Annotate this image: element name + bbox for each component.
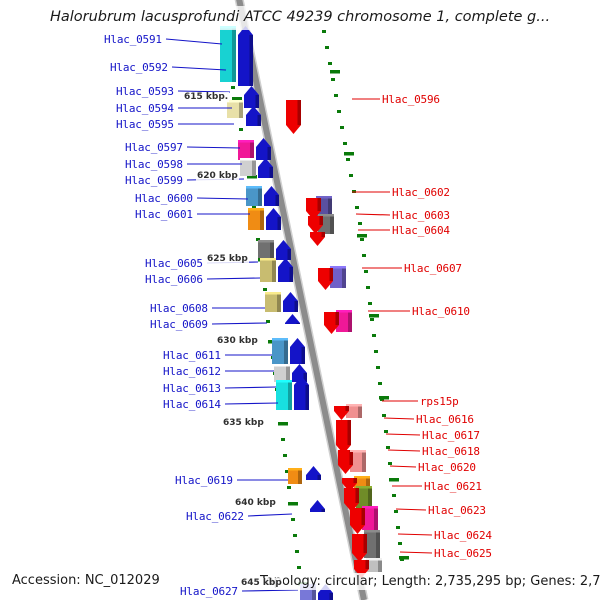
genome-graphics-layer: [0, 0, 600, 600]
gene-label-hlac_0614[interactable]: Hlac_0614: [163, 399, 221, 410]
gene-label-connector: [225, 403, 278, 404]
gene-box-top: [265, 292, 281, 295]
gene-label-connector: [386, 434, 420, 435]
gene-box-top: [258, 240, 274, 243]
gene-label-hlac_0607[interactable]: Hlac_0607: [404, 263, 462, 274]
gene-color-box[interactable]: [276, 380, 292, 410]
gene-box-side: [284, 338, 288, 364]
gene-arrow-side: [330, 593, 334, 600]
ruler-minor-tick: [293, 534, 297, 537]
ruler-label: 620 kbp: [196, 171, 239, 181]
ruler-label: 615 kbp.: [183, 92, 229, 102]
gene-color-box[interactable]: [265, 292, 281, 312]
gene-label-hlac_0592[interactable]: Hlac_0592: [110, 62, 168, 73]
gene-box-side: [286, 364, 290, 382]
ruler-minor-tick: [334, 94, 338, 97]
ruler-minor-tick: [346, 158, 350, 161]
gene-arrow-side: [318, 198, 322, 211]
gene-label-connector: [197, 198, 248, 199]
gene-box-top: [240, 158, 256, 161]
gene-label-hlac_0591[interactable]: Hlac_0591: [104, 34, 162, 45]
gene-color-box[interactable]: [246, 186, 262, 206]
gene-label-hlac_0627[interactable]: Hlac_0627: [180, 586, 238, 597]
ruler-minor-tick: [384, 430, 388, 433]
gene-label-hlac_0596[interactable]: Hlac_0596: [382, 94, 440, 105]
gene-label-connector: [396, 509, 426, 510]
gene-arrow-forward[interactable]: [238, 26, 265, 86]
gene-arrow-side: [302, 347, 306, 364]
gene-arrow-side: [298, 100, 302, 125]
gene-box-side: [250, 140, 254, 160]
ruler-major-tick: [232, 97, 242, 101]
gene-color-box[interactable]: [288, 468, 302, 484]
ruler-label: 625 kbp: [206, 254, 249, 264]
ruler-major-tick: [379, 396, 389, 400]
gene-box-side: [277, 292, 281, 312]
ruler-minor-tick: [328, 62, 332, 65]
gene-label-hlac_0611[interactable]: Hlac_0611: [163, 350, 221, 361]
ruler-minor-tick: [283, 454, 287, 457]
gene-label-hlac_0612[interactable]: Hlac_0612: [163, 366, 221, 377]
gene-box-top: [272, 338, 288, 341]
ruler-minor-tick: [281, 438, 285, 441]
ruler-label: 635 kbp: [222, 418, 265, 428]
ruler-minor-tick: [392, 494, 396, 497]
ruler-minor-tick: [287, 486, 291, 489]
gene-arrow-side: [250, 35, 254, 86]
sequence-stats-label: Topology: circular; Length: 2,735,295 bp…: [258, 573, 600, 590]
gene-arrow-side: [346, 406, 350, 411]
ruler-minor-tick: [358, 222, 362, 225]
gene-arrow-side: [268, 147, 272, 160]
ruler-minor-tick: [364, 270, 368, 273]
ruler-minor-tick: [337, 110, 341, 113]
gene-arrow-side: [362, 508, 366, 525]
gene-arrow-side: [364, 534, 368, 553]
gene-label-hlac_0593[interactable]: Hlac_0593: [116, 86, 174, 97]
gene-box-side: [288, 380, 292, 410]
sequence-viewer-canvas[interactable]: Halorubrum lacusprofundi ATCC 49239 chro…: [0, 0, 600, 600]
ruler-minor-tick: [388, 462, 392, 465]
gene-color-box[interactable]: [220, 26, 236, 82]
gene-arrow-side: [256, 95, 260, 108]
gene-arrow-side: [276, 195, 280, 206]
gene-color-box[interactable]: [227, 100, 243, 118]
ruler-minor-tick: [322, 30, 326, 33]
gene-arrow-side: [354, 478, 358, 483]
gene-color-box[interactable]: [238, 140, 254, 160]
ruler-minor-tick: [239, 128, 243, 131]
ruler-minor-tick: [394, 510, 398, 513]
ruler-minor-tick: [382, 414, 386, 417]
ruler-minor-tick: [374, 350, 378, 353]
gene-label-connector: [187, 147, 240, 148]
gene-label-hlac_0608[interactable]: Hlac_0608: [150, 303, 208, 314]
gene-label-hlac_0606[interactable]: Hlac_0606: [145, 274, 203, 285]
gene-color-box[interactable]: [272, 338, 288, 364]
gene-arrow-side: [297, 323, 301, 324]
gene-label-hlac_0624[interactable]: Hlac_0624: [434, 530, 492, 541]
gene-arrow-side: [295, 301, 299, 312]
gene-label-hlac_0597[interactable]: Hlac_0597: [125, 142, 183, 153]
gene-label-hlac_0621[interactable]: Hlac_0621: [424, 481, 482, 492]
gene-arrow-side: [336, 312, 340, 325]
gene-box-side: [258, 186, 262, 206]
gene-box-side: [272, 258, 276, 282]
gene-label-hlac_0604[interactable]: Hlac_0604: [392, 225, 450, 236]
ruler-minor-tick: [295, 550, 299, 553]
gene-label-connector: [390, 466, 416, 467]
gene-arrow-reverse[interactable]: [310, 232, 337, 246]
gene-label-hlac_0622[interactable]: Hlac_0622: [186, 511, 244, 522]
ruler-minor-tick: [398, 542, 402, 545]
gene-label-connector: [172, 67, 226, 70]
gene-box-top: [246, 186, 262, 189]
gene-arrow-reverse[interactable]: [336, 420, 363, 454]
gene-arrow-side: [350, 452, 354, 465]
gene-arrow-side: [322, 509, 326, 512]
ruler-major-tick: [344, 152, 354, 156]
gene-label-hlac_0617[interactable]: Hlac_0617: [422, 430, 480, 441]
ruler-minor-tick: [343, 142, 347, 145]
gene-label-hlac_0599[interactable]: Hlac_0599: [125, 175, 183, 186]
gene-label-hlac_0616[interactable]: Hlac_0616: [416, 414, 474, 425]
title-backdrop: [55, 6, 545, 30]
gene-arrow-forward[interactable]: [310, 500, 337, 512]
ruler-minor-tick: [366, 286, 370, 289]
gene-label-connector: [242, 590, 298, 591]
gene-label-connector: [398, 534, 432, 535]
gene-label-hlac_0623[interactable]: Hlac_0623: [428, 505, 486, 516]
gene-box-top: [248, 208, 264, 211]
gene-box-side: [260, 208, 264, 230]
ruler-minor-tick: [291, 518, 295, 521]
gene-box-top: [288, 468, 302, 471]
ruler-minor-tick: [368, 302, 372, 305]
gene-label-hlac_0619[interactable]: Hlac_0619: [175, 475, 233, 486]
ruler-label: 640 kbp: [234, 498, 277, 508]
gene-label-hlac_0603[interactable]: Hlac_0603: [392, 210, 450, 221]
gene-arrow-side: [318, 475, 322, 480]
ruler-minor-tick: [349, 174, 353, 177]
ruler-minor-tick: [396, 526, 400, 529]
ruler-major-tick: [330, 70, 340, 74]
gene-label-connector: [356, 214, 390, 215]
gene-arrow-side: [356, 488, 360, 503]
ruler-minor-tick: [355, 206, 359, 209]
ruler-minor-tick: [331, 78, 335, 81]
gene-label-hlac_0625[interactable]: Hlac_0625: [434, 548, 492, 559]
ruler-minor-tick: [370, 318, 374, 321]
gene-color-box[interactable]: [258, 240, 274, 258]
gene-label-hlac_0598[interactable]: Hlac_0598: [125, 159, 183, 170]
ruler-major-tick: [369, 314, 379, 318]
gene-arrow-side: [306, 385, 310, 410]
gene-label-hlac_0600[interactable]: Hlac_0600: [135, 193, 193, 204]
gene-arrow-side: [290, 267, 294, 282]
gene-label-hlac_0610[interactable]: Hlac_0610: [412, 306, 470, 317]
gene-arrow-side: [320, 216, 324, 225]
gene-label-hlac_0609[interactable]: Hlac_0609: [150, 319, 208, 330]
gene-arrow-side: [348, 420, 352, 445]
gene-label-connector: [212, 323, 267, 324]
gene-box-top: [227, 100, 243, 103]
gene-color-box[interactable]: [248, 208, 264, 230]
gene-label-connector: [207, 278, 260, 279]
ruler-minor-tick: [360, 238, 364, 241]
gene-box-top: [276, 380, 292, 383]
gene-label-connector: [225, 387, 276, 388]
gene-label-hlac_0602[interactable]: Hlac_0602: [392, 187, 450, 198]
gene-label-hlac_0605[interactable]: Hlac_0605: [145, 258, 203, 269]
gene-box-side: [239, 100, 243, 118]
gene-color-box[interactable]: [274, 364, 290, 382]
ruler-minor-tick: [376, 366, 380, 369]
ruler-minor-tick: [231, 86, 235, 89]
accession-label: Accession: NC_012029: [12, 573, 160, 588]
ruler-label: 645 kbp: [240, 578, 283, 588]
ruler-minor-tick: [386, 446, 390, 449]
gene-arrow-side: [322, 232, 326, 237]
ruler-major-tick: [288, 502, 298, 506]
gene-label-connector: [384, 418, 414, 419]
ruler-major-tick: [278, 422, 288, 426]
ruler-minor-tick: [378, 382, 382, 385]
gene-arrow-side: [288, 249, 292, 260]
gene-label-hlac_0594[interactable]: Hlac_0594: [116, 103, 174, 114]
ruler-major-tick: [389, 478, 399, 482]
ruler-minor-tick: [340, 126, 344, 129]
gene-label-connector: [400, 552, 432, 553]
gene-arrow-side: [366, 560, 370, 569]
gene-arrow-side: [258, 115, 262, 126]
ruler-minor-tick: [325, 46, 329, 49]
ruler-minor-tick: [362, 254, 366, 257]
gene-label-hlac_0613[interactable]: Hlac_0613: [163, 383, 221, 394]
gene-arrow-side: [330, 268, 334, 281]
gene-label-hlac_0601[interactable]: Hlac_0601: [135, 209, 193, 220]
gene-box-top: [364, 530, 380, 533]
gene-label-hlac_0620[interactable]: Hlac_0620: [418, 462, 476, 473]
gene-box-side: [270, 240, 274, 258]
gene-arrow-forward[interactable]: [306, 466, 333, 480]
gene-color-box[interactable]: [240, 158, 256, 176]
ruler-label: 630 kbp: [216, 336, 259, 346]
gene-color-box[interactable]: [260, 258, 276, 282]
ruler-minor-tick: [297, 566, 301, 569]
gene-box-top: [274, 364, 290, 367]
ruler-minor-tick: [372, 334, 376, 337]
gene-label-rps15p[interactable]: rps15p: [420, 396, 459, 407]
gene-label-connector: [248, 514, 292, 516]
gene-box-side: [252, 158, 256, 176]
gene-label-connector: [166, 39, 222, 44]
ruler-minor-tick: [263, 288, 267, 291]
gene-label-hlac_0618[interactable]: Hlac_0618: [422, 446, 480, 457]
gene-label-connector: [388, 450, 420, 451]
gene-box-side: [232, 26, 236, 82]
gene-box-top: [260, 258, 276, 261]
gene-arrow-reverse[interactable]: [286, 100, 313, 134]
gene-arrow-side: [270, 167, 274, 178]
gene-arrow-side: [278, 217, 282, 230]
gene-label-hlac_0595[interactable]: Hlac_0595: [116, 119, 174, 130]
ruler-major-tick: [357, 234, 367, 238]
ruler-major-tick: [399, 556, 409, 560]
gene-box-top: [238, 140, 254, 143]
